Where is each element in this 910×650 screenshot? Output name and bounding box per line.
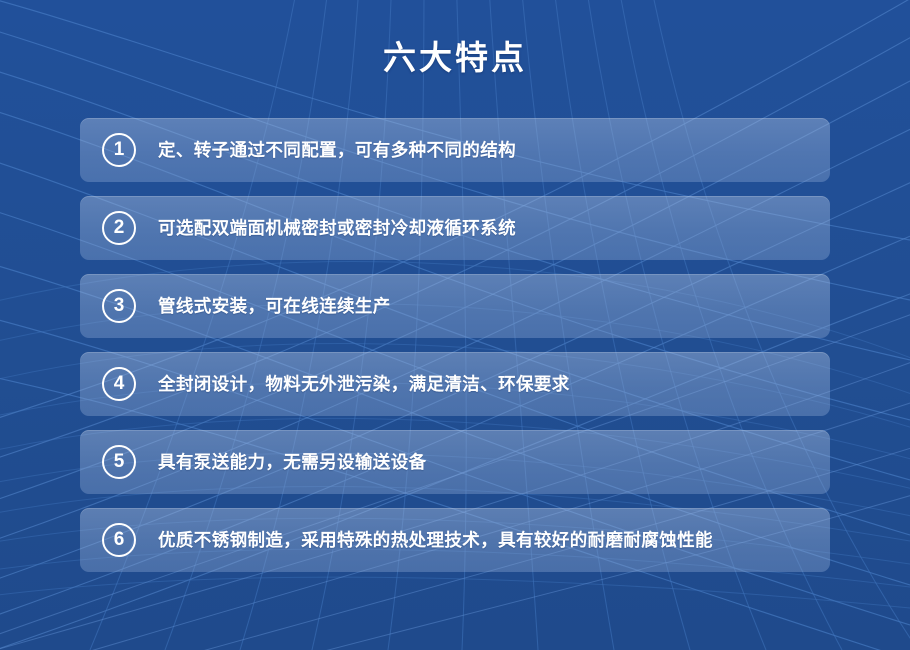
feature-text: 优质不锈钢制造，采用特殊的热处理技术，具有较好的耐磨耐腐蚀性能 bbox=[158, 528, 812, 552]
feature-text: 可选配双端面机械密封或密封冷却液循环系统 bbox=[158, 216, 812, 240]
feature-number-badge: 6 bbox=[102, 523, 136, 557]
feature-list: 1 定、转子通过不同配置，可有多种不同的结构 2 可选配双端面机械密封或密封冷却… bbox=[80, 118, 830, 586]
feature-row[interactable]: 4 全封闭设计，物料无外泄污染，满足清洁、环保要求 bbox=[80, 352, 830, 416]
feature-number-badge: 2 bbox=[102, 211, 136, 245]
slide-content: 六大特点 1 定、转子通过不同配置，可有多种不同的结构 2 可选配双端面机械密封… bbox=[0, 0, 910, 650]
feature-number-badge: 3 bbox=[102, 289, 136, 323]
feature-row[interactable]: 3 管线式安装，可在线连续生产 bbox=[80, 274, 830, 338]
feature-text: 全封闭设计，物料无外泄污染，满足清洁、环保要求 bbox=[158, 372, 812, 396]
feature-row[interactable]: 2 可选配双端面机械密封或密封冷却液循环系统 bbox=[80, 196, 830, 260]
feature-text: 定、转子通过不同配置，可有多种不同的结构 bbox=[158, 138, 812, 162]
feature-row[interactable]: 1 定、转子通过不同配置，可有多种不同的结构 bbox=[80, 118, 830, 182]
feature-number-badge: 4 bbox=[102, 367, 136, 401]
feature-number-badge: 5 bbox=[102, 445, 136, 479]
feature-text: 管线式安装，可在线连续生产 bbox=[158, 294, 812, 318]
feature-text: 具有泵送能力，无需另设输送设备 bbox=[158, 450, 812, 474]
feature-row[interactable]: 5 具有泵送能力，无需另设输送设备 bbox=[80, 430, 830, 494]
feature-row[interactable]: 6 优质不锈钢制造，采用特殊的热处理技术，具有较好的耐磨耐腐蚀性能 bbox=[80, 508, 830, 572]
slide-canvas: 六大特点 1 定、转子通过不同配置，可有多种不同的结构 2 可选配双端面机械密封… bbox=[0, 0, 910, 650]
page-title: 六大特点 bbox=[0, 38, 910, 78]
feature-number-badge: 1 bbox=[102, 133, 136, 167]
